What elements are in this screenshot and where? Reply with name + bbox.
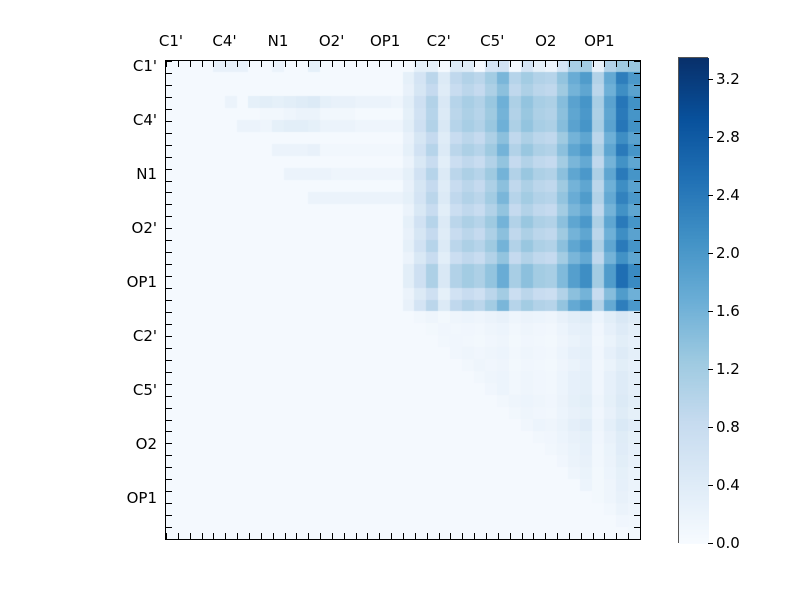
y-tick	[166, 145, 172, 146]
y-tick	[166, 443, 172, 444]
colorbar-gradient	[679, 58, 709, 544]
y-tick	[634, 348, 640, 349]
x-tick	[545, 533, 546, 539]
colorbar-tick-label: 2.0	[716, 244, 740, 262]
y-tick	[166, 372, 172, 373]
heatmap-axes	[165, 60, 641, 540]
x-tick	[533, 533, 534, 539]
y-tick	[166, 467, 172, 468]
colorbar	[678, 57, 708, 543]
x-tick	[190, 61, 191, 67]
x-tick	[379, 61, 380, 67]
y-tick	[634, 408, 640, 409]
y-tick	[634, 384, 640, 385]
y-tick	[166, 384, 172, 385]
y-tick	[166, 360, 172, 361]
x-tick	[616, 61, 617, 67]
y-tick	[166, 133, 172, 134]
y-tick	[634, 109, 640, 110]
y-tick	[166, 121, 172, 122]
y-tick	[634, 443, 640, 444]
colorbar-tick-label: 0.0	[716, 534, 740, 552]
y-tick	[634, 252, 640, 253]
colorbar-tick	[708, 137, 713, 138]
y-tick	[634, 133, 640, 134]
x-tick-label: C2'	[427, 32, 451, 50]
y-tick	[166, 109, 172, 110]
x-tick	[569, 61, 570, 67]
y-tick	[634, 73, 640, 74]
colorbar-tick-label: 0.4	[716, 476, 740, 494]
colorbar-tick	[708, 311, 713, 312]
y-tick-label: C4'	[133, 111, 157, 129]
y-tick-label: O2'	[132, 219, 157, 237]
x-tick	[178, 61, 179, 67]
x-tick	[498, 61, 499, 67]
colorbar-tick-label: 1.6	[716, 302, 740, 320]
x-tick	[237, 533, 238, 539]
y-tick	[634, 169, 640, 170]
y-tick	[166, 431, 172, 432]
y-tick	[166, 503, 172, 504]
y-tick	[166, 288, 172, 289]
y-tick	[166, 157, 172, 158]
colorbar-tick-label: 0.8	[716, 418, 740, 436]
colorbar-tick-label: 2.4	[716, 186, 740, 204]
y-tick	[166, 192, 172, 193]
y-tick	[634, 204, 640, 205]
y-tick-label: OP1	[127, 273, 157, 291]
x-tick	[616, 533, 617, 539]
x-tick	[486, 533, 487, 539]
x-tick	[237, 61, 238, 67]
x-tick	[332, 533, 333, 539]
x-tick	[379, 533, 380, 539]
y-tick	[166, 264, 172, 265]
y-tick	[634, 539, 640, 540]
x-tick	[628, 533, 629, 539]
x-tick	[249, 533, 250, 539]
y-tick	[634, 336, 640, 337]
y-tick	[634, 216, 640, 217]
x-tick	[367, 533, 368, 539]
y-tick	[634, 479, 640, 480]
y-tick	[634, 157, 640, 158]
y-tick	[634, 527, 640, 528]
x-tick-label: C5'	[480, 32, 504, 50]
x-tick-label: O2	[535, 32, 556, 50]
x-tick	[569, 533, 570, 539]
x-tick	[640, 61, 641, 67]
x-tick	[344, 533, 345, 539]
x-tick	[557, 61, 558, 67]
y-tick	[166, 252, 172, 253]
y-tick	[634, 455, 640, 456]
x-tick	[285, 61, 286, 67]
y-tick	[634, 145, 640, 146]
y-tick	[166, 348, 172, 349]
x-tick	[522, 61, 523, 67]
x-tick	[415, 533, 416, 539]
y-tick	[166, 300, 172, 301]
y-tick	[634, 264, 640, 265]
x-tick	[557, 533, 558, 539]
x-tick	[332, 61, 333, 67]
x-tick-label: C1'	[159, 32, 183, 50]
colorbar-tick	[708, 427, 713, 428]
x-tick	[296, 533, 297, 539]
y-tick	[634, 121, 640, 122]
y-tick	[634, 228, 640, 229]
x-tick	[403, 61, 404, 67]
x-tick	[213, 533, 214, 539]
x-tick	[403, 533, 404, 539]
x-tick	[593, 533, 594, 539]
y-tick	[166, 408, 172, 409]
y-tick	[166, 73, 172, 74]
x-tick-label: N1	[268, 32, 289, 50]
colorbar-tick	[708, 195, 713, 196]
x-tick	[415, 61, 416, 67]
x-tick	[391, 61, 392, 67]
y-tick-label: C2'	[133, 327, 157, 345]
heatmap-image	[166, 61, 640, 539]
x-tick	[604, 533, 605, 539]
x-tick	[533, 61, 534, 67]
colorbar-tick	[708, 543, 713, 544]
x-tick	[202, 533, 203, 539]
y-tick	[166, 491, 172, 492]
x-tick	[486, 61, 487, 67]
colorbar-tick-label: 3.2	[716, 70, 740, 88]
colorbar-tick-label: 1.2	[716, 360, 740, 378]
x-tick	[367, 61, 368, 67]
x-tick	[296, 61, 297, 67]
y-tick	[166, 479, 172, 480]
x-tick	[427, 533, 428, 539]
y-tick	[166, 85, 172, 86]
x-tick	[474, 533, 475, 539]
y-tick-label: OP1	[127, 489, 157, 507]
y-tick	[166, 97, 172, 98]
y-tick	[166, 539, 172, 540]
x-tick	[356, 533, 357, 539]
x-tick	[249, 61, 250, 67]
x-tick	[213, 61, 214, 67]
y-tick	[634, 360, 640, 361]
x-tick	[604, 61, 605, 67]
y-tick	[634, 276, 640, 277]
x-tick	[261, 533, 262, 539]
y-tick	[166, 336, 172, 337]
y-tick	[634, 515, 640, 516]
y-tick	[634, 181, 640, 182]
y-tick	[634, 85, 640, 86]
y-tick-label: C5'	[133, 381, 157, 399]
x-tick	[308, 533, 309, 539]
x-tick	[225, 61, 226, 67]
y-tick	[634, 431, 640, 432]
y-tick	[634, 240, 640, 241]
x-tick	[462, 61, 463, 67]
y-tick	[634, 312, 640, 313]
y-tick	[166, 181, 172, 182]
x-tick-label: C4'	[212, 32, 236, 50]
x-tick	[190, 533, 191, 539]
colorbar-tick-label: 2.8	[716, 128, 740, 146]
y-tick	[634, 288, 640, 289]
x-tick	[178, 533, 179, 539]
x-tick	[450, 61, 451, 67]
y-tick	[166, 324, 172, 325]
y-tick	[634, 491, 640, 492]
x-tick	[545, 61, 546, 67]
colorbar-tick	[708, 369, 713, 370]
x-tick	[320, 61, 321, 67]
y-tick	[166, 61, 172, 62]
x-tick	[439, 61, 440, 67]
x-tick	[498, 533, 499, 539]
y-tick	[166, 276, 172, 277]
y-tick	[166, 169, 172, 170]
x-tick	[391, 533, 392, 539]
x-tick	[640, 533, 641, 539]
x-tick	[273, 533, 274, 539]
y-tick	[166, 204, 172, 205]
x-tick	[344, 61, 345, 67]
colorbar-tick	[708, 79, 713, 80]
x-tick	[581, 533, 582, 539]
y-tick	[634, 503, 640, 504]
x-tick	[285, 533, 286, 539]
y-tick	[634, 192, 640, 193]
y-tick	[166, 515, 172, 516]
x-tick	[273, 61, 274, 67]
y-tick	[634, 420, 640, 421]
y-tick	[634, 324, 640, 325]
y-tick	[634, 97, 640, 98]
x-tick	[356, 61, 357, 67]
y-tick	[166, 240, 172, 241]
x-tick	[261, 61, 262, 67]
x-tick	[427, 61, 428, 67]
y-tick	[166, 228, 172, 229]
colorbar-tick	[708, 485, 713, 486]
y-tick-label: O2	[136, 435, 157, 453]
heatmap-figure: C1'C4'N1O2'OP1C2'C5'O2OP1 C1'C4'N1O2'OP1…	[0, 0, 800, 600]
x-tick	[225, 533, 226, 539]
colorbar-tick	[708, 253, 713, 254]
y-tick	[166, 455, 172, 456]
x-tick	[522, 533, 523, 539]
y-tick	[166, 216, 172, 217]
y-tick	[166, 312, 172, 313]
y-tick	[634, 300, 640, 301]
y-tick	[634, 467, 640, 468]
x-tick	[593, 61, 594, 67]
y-tick	[166, 527, 172, 528]
x-tick	[510, 533, 511, 539]
x-tick	[581, 61, 582, 67]
x-tick	[510, 61, 511, 67]
x-tick	[450, 533, 451, 539]
x-tick-label: OP1	[584, 32, 614, 50]
y-tick	[634, 396, 640, 397]
x-tick	[320, 533, 321, 539]
y-tick	[634, 372, 640, 373]
x-tick	[439, 533, 440, 539]
x-tick	[474, 61, 475, 67]
x-tick-label: OP1	[370, 32, 400, 50]
x-tick	[308, 61, 309, 67]
y-tick-label: N1	[136, 165, 157, 183]
x-tick-label: O2'	[319, 32, 344, 50]
x-tick	[202, 61, 203, 67]
x-tick	[462, 533, 463, 539]
y-tick	[166, 420, 172, 421]
x-tick	[628, 61, 629, 67]
y-tick	[166, 396, 172, 397]
y-tick-label: C1'	[133, 57, 157, 75]
